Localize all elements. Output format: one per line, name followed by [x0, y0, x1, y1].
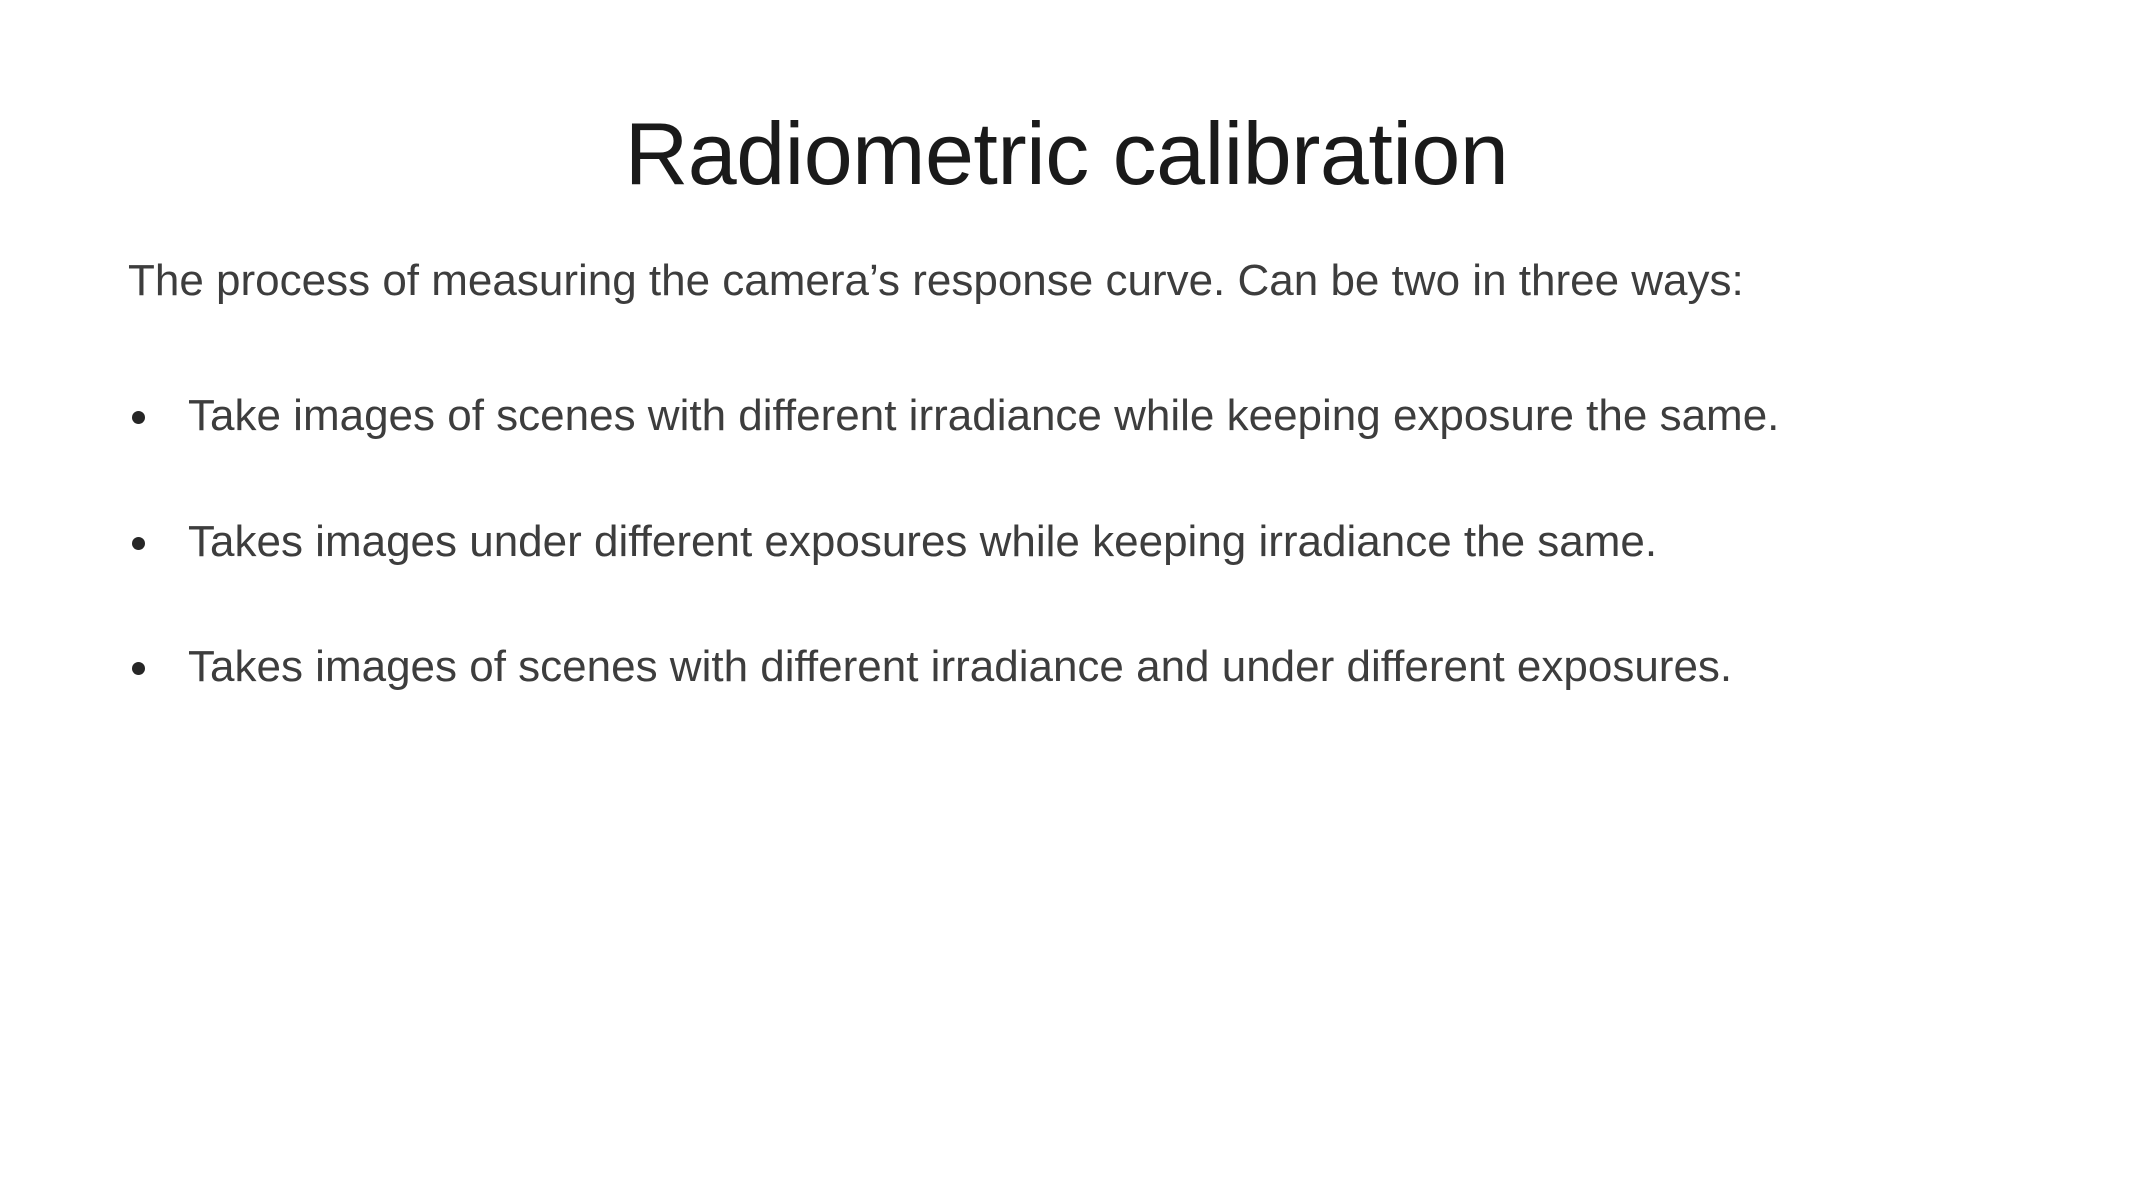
list-item-label: Take images of scenes with different irr…	[188, 390, 1779, 443]
slide-canvas: Radiometric calibration The process of m…	[0, 0, 2133, 1200]
bullet-dot-icon	[132, 537, 145, 550]
bullet-dot-icon	[132, 411, 145, 424]
list-item: Takes images under different exposures w…	[128, 516, 2028, 569]
page-title: Radiometric calibration	[0, 105, 2133, 204]
list-item-label: Takes images under different exposures w…	[188, 516, 1657, 569]
slide-body: The process of measuring the camera’s re…	[128, 255, 2028, 694]
intro-paragraph: The process of measuring the camera’s re…	[128, 255, 2028, 308]
bullet-dot-icon	[132, 662, 145, 675]
bullet-list: Take images of scenes with different irr…	[128, 390, 2028, 694]
list-item: Takes images of scenes with different ir…	[128, 641, 2028, 694]
list-item-label: Takes images of scenes with different ir…	[188, 641, 1732, 694]
list-item: Take images of scenes with different irr…	[128, 390, 2028, 443]
